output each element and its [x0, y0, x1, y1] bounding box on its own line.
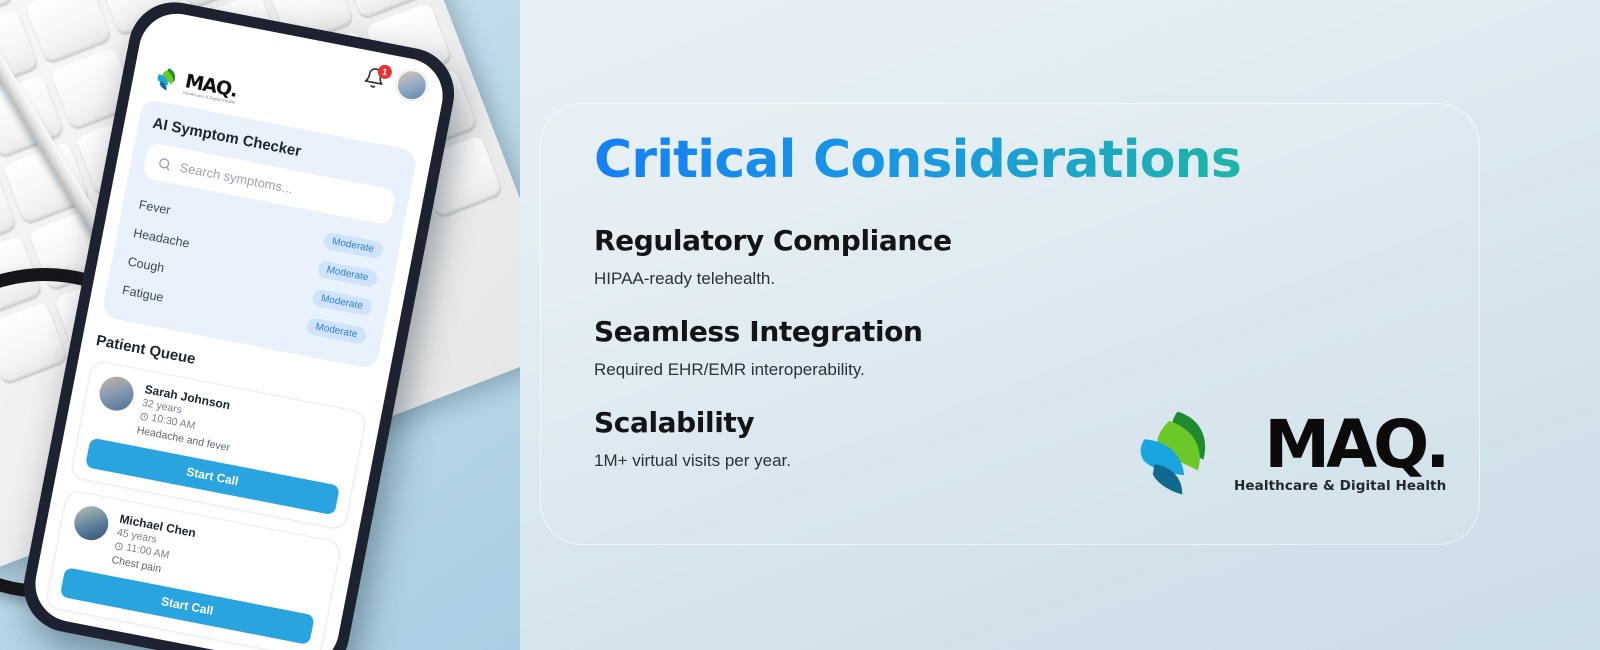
- notification-bell-icon[interactable]: 1: [362, 65, 388, 91]
- user-avatar[interactable]: [394, 68, 429, 103]
- severity-badge: Moderate: [305, 317, 367, 345]
- maq-wordmark-block: MAQ. Healthcare & Digital Health: [1234, 414, 1446, 495]
- patient-queue-section: Patient Queue Sarah Johnson 32 years: [29, 314, 390, 650]
- maq-logo-large: MAQ. Healthcare & Digital Health: [1128, 408, 1446, 500]
- symptom-name: Cough: [127, 254, 166, 275]
- search-placeholder: Search symptoms...: [179, 159, 295, 196]
- leaf-icon: [1128, 408, 1220, 500]
- symptom-name: Fatigue: [121, 282, 165, 304]
- symptom-name: Headache: [132, 226, 191, 251]
- consideration-title: Regulatory Compliance: [594, 224, 1494, 257]
- patient-avatar: [97, 374, 137, 414]
- consideration-desc: Required EHR/EMR interoperability.: [594, 360, 1494, 380]
- page-title: Critical Considerations: [594, 132, 1494, 188]
- maq-wordmark: MAQ.: [1264, 414, 1446, 477]
- symptom-name: Fever: [138, 197, 172, 217]
- consideration-title: Seamless Integration: [594, 315, 1494, 348]
- clock-icon: [139, 411, 150, 422]
- consideration-block: Seamless Integration Required EHR/EMR in…: [594, 315, 1494, 380]
- leaf-icon: [151, 64, 181, 94]
- patient-avatar: [71, 503, 111, 543]
- search-icon: [156, 155, 174, 173]
- clock-icon: [114, 541, 125, 552]
- maq-tagline: Healthcare & Digital Health: [1234, 478, 1446, 494]
- consideration-block: Regulatory Compliance HIPAA-ready telehe…: [594, 224, 1494, 289]
- consideration-desc: HIPAA-ready telehealth.: [594, 269, 1494, 289]
- slide-canvas: P O I K: [0, 0, 1600, 650]
- patient-info: Michael Chen 45 years 11:00 AM Chest pai…: [111, 512, 197, 581]
- patient-info: Sarah Johnson 32 years 10:30 AM Headache…: [136, 382, 239, 454]
